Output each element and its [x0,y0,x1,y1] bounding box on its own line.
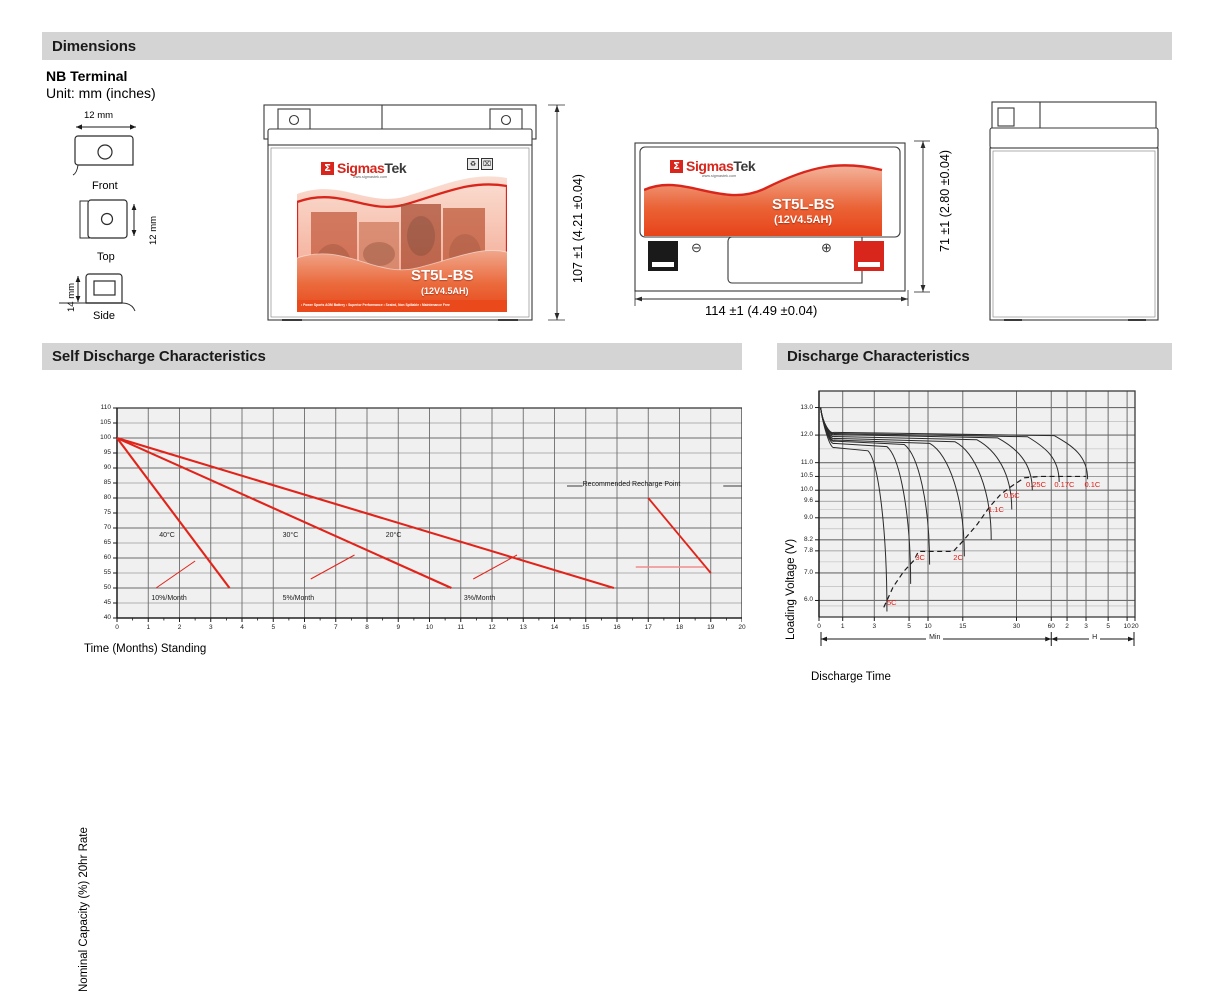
self-chart-plot [42,400,742,650]
self-chart-ytick: 50 [87,584,111,591]
terminal-side-label: Side [93,310,115,322]
section-title-dimensions: Dimensions [42,38,136,55]
self-chart-xtick: 13 [514,624,532,631]
self-chart-xtick: 1 [139,624,157,631]
self-chart-annotation: Recommended Recharge Point [583,481,681,488]
self-chart-xtick: 2 [171,624,189,631]
top-width-dim-text: 114 ±1 (4.49 ±0.04) [705,303,817,318]
brand-name: SigmasTek [337,160,406,176]
unit-note: Unit: mm (inches) [46,85,156,101]
discharge-chart-ytick: 9.0 [785,514,813,521]
discharge-chart-xtick: 10 [919,623,937,630]
discharge-curve-label: 5C [887,598,897,607]
discharge-chart-ytick: 13.0 [785,404,813,411]
self-chart-ytick: 80 [87,494,111,501]
self-chart-annotation: 40°C [159,532,175,539]
discharge-chart-ytick: 7.8 [785,547,813,554]
sigma-icon: Σ [670,160,683,173]
self-chart-ytick: 60 [87,554,111,561]
discharge-chart-xtick: 20 [1126,623,1144,630]
positive-terminal-symbol: ⊕ [821,240,832,256]
self-chart-xtick: 8 [358,624,376,631]
label-icons: ♻ ⌧ [467,158,493,170]
self-chart-xtick: 6 [296,624,314,631]
discharge-curve-label: 1.1C [988,505,1004,514]
no-trash-bin-icon: ⌧ [481,158,493,170]
discharge-chart-xtick: 3 [1077,623,1095,630]
terminal-side-height-dim: 14 mm [66,283,77,312]
terminal-width-dim: 12 mm [84,110,113,121]
self-chart-annotation: 20°C [386,532,402,539]
model-spec: (12V4.5AH) [421,286,469,296]
discharge-chart-xtick: 5 [900,623,918,630]
self-chart-xtick: 5 [264,624,282,631]
self-chart-ytick: 55 [87,569,111,576]
self-chart-xtick: 7 [327,624,345,631]
terminal-width-arrow [74,122,144,132]
discharge-chart-xtick: 15 [954,623,972,630]
discharge-chart-xtick: 3 [865,623,883,630]
self-chart-ytick: 70 [87,524,111,531]
discharge-curve-label: 0.17C [1054,480,1074,489]
discharge-chart-ytick: 6.0 [785,596,813,603]
battery-top-label: Σ SigmasTek www.sigmastek.com ST5L-BS (1… [644,152,892,236]
self-chart-ylabel: Nominal Capacity (%) 20hr Rate [78,827,90,992]
recycle-icon: ♻ [467,158,479,170]
top-height-dim-text: 71 ±1 (2.80 ±0.04) [938,150,952,252]
self-chart-ytick: 100 [87,434,111,441]
sigma-icon: Σ [321,162,334,175]
top-height-dim-arrow [912,137,940,297]
self-chart-ytick: 65 [87,539,111,546]
self-chart-annotation: 30°C [283,532,299,539]
self-chart-ytick: 40 [87,614,111,621]
self-chart-annotation: 3%/Month [464,595,496,602]
front-height-dim-text: 107 ±1 (4.21 ±0.04) [571,174,585,283]
discharge-chart-ytick: 12.0 [785,431,813,438]
discharge-chart-xtick: 1 [834,623,852,630]
model-name: ST5L-BS [772,196,835,213]
terminal-front-label: Front [92,180,118,192]
self-chart-xtick: 4 [233,624,251,631]
self-chart-ytick: 45 [87,599,111,606]
brand-name: SigmasTek [686,158,755,174]
battery-front-label: Σ SigmasTek www.sigmastek.com ♻ ⌧ ST5L-B… [297,150,507,312]
self-chart-xtick: 0 [108,624,126,631]
discharge-chart-ytick: 9.6 [785,497,813,504]
label-tagline: • Power Sports AGM Battery • Superior Pe… [301,303,450,307]
section-header-self-discharge: Self Discharge Characteristics [42,343,742,370]
self-chart-xtick: 11 [452,624,470,631]
discharge-chart-plot [777,385,1177,685]
top-brand-logo: Σ SigmasTek [670,158,755,174]
battery-side-view [988,98,1170,326]
brand-website: www.sigmastek.com [353,175,387,179]
self-chart-ytick: 75 [87,509,111,516]
self-chart-xtick: 3 [202,624,220,631]
self-chart-xtick: 19 [702,624,720,631]
discharge-axis-min-label: Min [926,634,943,641]
self-chart-xtick: 18 [671,624,689,631]
self-chart-annotation: 5%/Month [283,595,315,602]
self-chart-xtick: 9 [389,624,407,631]
terminal-top-label: Top [97,251,115,263]
self-chart-xtick: 17 [639,624,657,631]
self-chart-ytick: 105 [87,419,111,426]
self-discharge-chart: Nominal Capacity (%) 20hr Rate Time (Mon… [42,400,742,650]
discharge-curve-label: 3C [915,553,925,562]
section-header-dimensions: Dimensions [42,32,1172,60]
section-title-discharge: Discharge Characteristics [777,348,970,365]
discharge-chart-ytick: 8.2 [785,536,813,543]
brand-logo: Σ SigmasTek [321,160,406,176]
discharge-curve-label: 0.1C [1084,480,1100,489]
self-chart-xtick: 10 [421,624,439,631]
self-chart-ytick: 90 [87,464,111,471]
discharge-chart-ytick: 10.5 [785,472,813,479]
discharge-chart-xtick: 5 [1099,623,1117,630]
terminal-top-height-dim: 12 mm [148,216,159,245]
discharge-chart-ytick: 11.0 [785,459,813,466]
discharge-chart-ytick: 7.0 [785,569,813,576]
self-chart-ytick: 85 [87,479,111,486]
discharge-chart-xtick: 0 [810,623,828,630]
self-chart-xtick: 16 [608,624,626,631]
self-chart-xtick: 15 [577,624,595,631]
model-spec: (12V4.5AH) [774,214,832,226]
discharge-chart: Loading Voltage (V) Discharge Time 01351… [777,385,1177,685]
discharge-chart-xtick: 30 [1008,623,1026,630]
negative-terminal-symbol: ⊖ [691,240,702,256]
section-header-discharge: Discharge Characteristics [777,343,1172,370]
brand-website: www.sigmastek.com [702,174,736,178]
model-name: ST5L-BS [411,267,474,284]
discharge-chart-ytick: 10.0 [785,486,813,493]
discharge-curve-label: 0.25C [1026,480,1046,489]
discharge-axis-hour-label: H [1089,634,1100,641]
self-chart-xtick: 14 [546,624,564,631]
nb-terminal-title: NB Terminal [46,68,127,84]
terminal-top-view [72,196,152,254]
self-chart-ytick: 110 [87,404,111,411]
self-chart-ytick: 95 [87,449,111,456]
self-chart-xtick: 12 [483,624,501,631]
discharge-curve-label: 2C [953,553,963,562]
self-chart-xtick: 20 [733,624,751,631]
section-title-self-discharge: Self Discharge Characteristics [42,348,266,365]
discharge-chart-xtick: 2 [1058,623,1076,630]
discharge-curve-label: 0.6C [1004,491,1020,500]
self-chart-annotation: 10%/Month [151,595,186,602]
